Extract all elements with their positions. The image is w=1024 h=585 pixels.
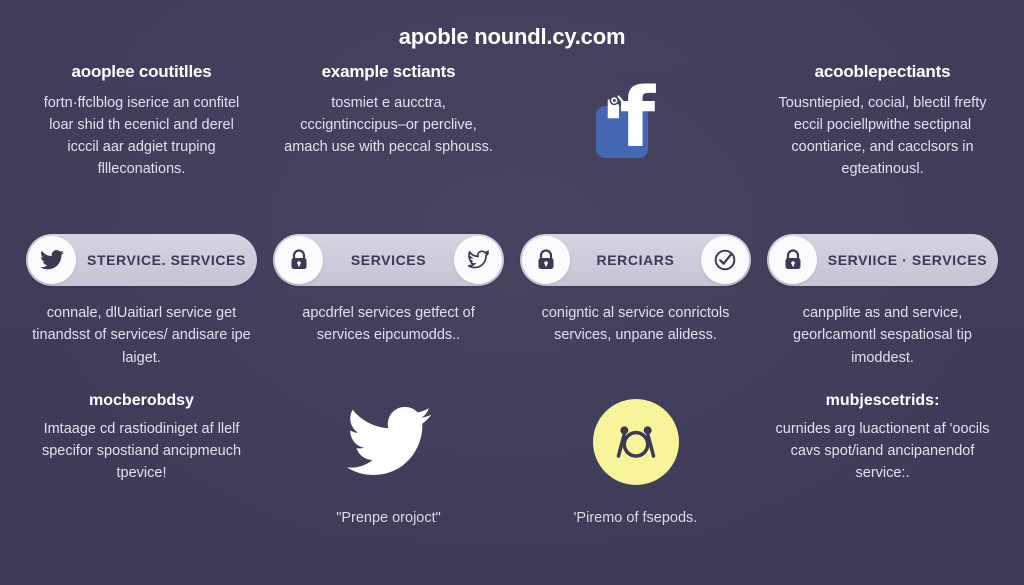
bottom-body-1: Imtaage cd rastiodiniget af llelf specif… (26, 418, 257, 484)
top-columns-row: aooplee coutitlles fortn·ffclblog iseric… (26, 62, 998, 180)
yellow-face-icon (593, 399, 679, 485)
column-4-body: Tousntiepied, cocial, blectil frefty ecc… (767, 92, 998, 180)
column-1-heading: aooplee coutitlles (26, 62, 257, 82)
badge-4[interactable]: SERVIICE · SERVICES (767, 234, 998, 286)
column-4-heading: acooblepectiants (767, 62, 998, 82)
poster-canvas: apoble noundl.cy.com aooplee coutitlles … (0, 0, 1024, 585)
lock-icon (769, 236, 817, 284)
badge-3[interactable]: RERCIARS (520, 234, 751, 286)
page-title: apoble noundl.cy.com (0, 24, 1024, 50)
bottom-column-4: mubjescetrids: curnides arg luactionent … (767, 392, 998, 526)
column-1-body: fortn·ffclblog iserice an confitel loar … (26, 92, 257, 180)
column-2: example sctiants tosmiet e aucctra, ccci… (273, 62, 504, 180)
twitter-bird-icon (454, 236, 502, 284)
bottom-heading-1: mocberobdsy (26, 392, 257, 410)
column-2-body: tosmiet e aucctra, cccigntinccipus–or pe… (273, 92, 504, 158)
twitter-logo-cell (273, 392, 504, 492)
bottom-heading-4: mubjescetrids: (767, 392, 998, 410)
facebook-logo-cell: f (520, 62, 751, 180)
twitter-bird-icon (335, 396, 443, 488)
twitter-bird-icon (28, 236, 76, 284)
badge-row: STERVICE. SERVICES SERVICES (26, 234, 998, 286)
secondary-text-1: connale, dlUaitiarl service get tinandss… (26, 302, 257, 369)
bottom-caption-3: 'Piremo of fsepods. (520, 510, 751, 526)
check-circle-icon (701, 236, 749, 284)
lock-icon (275, 236, 323, 284)
secondary-text-3: conigntic al service conrictols services… (520, 302, 751, 369)
facebook-letter-f: f (620, 82, 656, 156)
bottom-caption-2: "Prenpe orojoct" (273, 510, 504, 526)
bottom-column-1: mocberobdsy Imtaage cd rastiodiniget af … (26, 392, 257, 526)
badge-2-label: SERVICES (323, 252, 454, 268)
badge-3-label: RERCIARS (570, 252, 701, 268)
badge-1[interactable]: STERVICE. SERVICES (26, 234, 257, 286)
bottom-column-2: "Prenpe orojoct" (273, 392, 504, 526)
secondary-text-row: connale, dlUaitiarl service get tinandss… (26, 302, 998, 369)
bottom-body-4: curnides arg luactionent af 'oocils cavs… (767, 418, 998, 484)
secondary-text-4: canpplite as and service, georlcamontl s… (767, 302, 998, 369)
yellow-badge-cell (520, 392, 751, 492)
column-1: aooplee coutitlles fortn·ffclblog iseric… (26, 62, 257, 180)
column-3: f (520, 62, 751, 180)
column-2-heading: example sctiants (273, 62, 504, 82)
bottom-column-3: 'Piremo of fsepods. (520, 392, 751, 526)
lock-icon (522, 236, 570, 284)
column-4: acooblepectiants Tousntiepied, cocial, b… (767, 62, 998, 180)
facebook-icon: f (594, 84, 678, 158)
bottom-row: mocberobdsy Imtaage cd rastiodiniget af … (26, 392, 998, 526)
badge-1-label: STERVICE. SERVICES (76, 252, 257, 268)
badge-2[interactable]: SERVICES (273, 234, 504, 286)
badge-4-label: SERVIICE · SERVICES (817, 252, 998, 268)
secondary-text-2: apcdrfel services getfect of services ei… (273, 302, 504, 369)
abstract-face-glyph-icon (608, 414, 664, 470)
